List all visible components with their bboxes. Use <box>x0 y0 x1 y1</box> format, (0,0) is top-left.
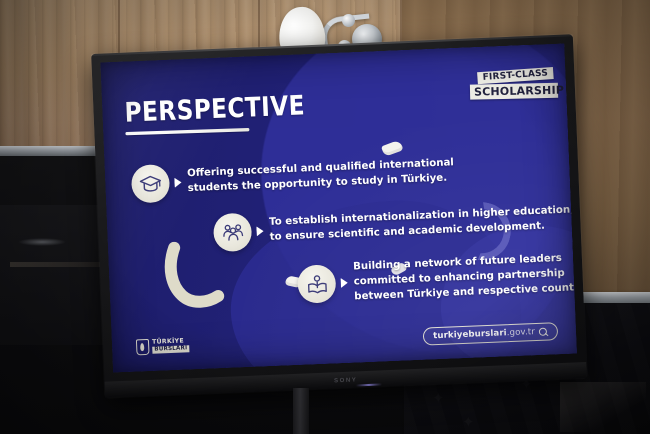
dark-furniture-left <box>0 205 108 345</box>
star-decal: ✦ <box>462 415 475 430</box>
graduation-cap-icon <box>131 164 171 204</box>
magnifier-icon <box>539 327 548 336</box>
bullet-arrow-icon <box>174 177 181 187</box>
presentation-slide: PERSPECTIVE FIRST-CLASS SCHOLARSHIP <box>101 44 577 373</box>
light-reflection-left <box>18 238 66 246</box>
url-text: turkiyeburslari.gov.tr <box>433 327 535 341</box>
tv-screen: PERSPECTIVE FIRST-CLASS SCHOLARSHIP <box>101 44 577 373</box>
turkiye-burslari-logo: TÜRKİYE BURSLARI <box>136 337 190 355</box>
url-main: turkiyeburslari <box>433 328 507 341</box>
person-reading-book-icon <box>297 264 337 304</box>
tv-brand-logo: SONY <box>334 377 358 384</box>
bullet-text-3: Building a network of future leaders com… <box>353 251 577 305</box>
photo-scene: ✦ ✦ ✦ ✦ ✦ ✦ <box>0 0 650 434</box>
bullet-text-1: Offering successful and qualified intern… <box>187 156 455 196</box>
page-title: PERSPECTIVE <box>124 90 306 128</box>
group-people-icon <box>213 213 253 253</box>
first-class-scholarship-logo: FIRST-CLASS SCHOLARSHIP <box>469 68 550 100</box>
logo-text-group: TÜRKİYE BURSLARI <box>152 338 190 353</box>
star-decal: ✦ <box>432 391 445 406</box>
logo-line-scholarship: SCHOLARSHIP <box>470 83 558 100</box>
television: PERSPECTIVE FIRST-CLASS SCHOLARSHIP <box>91 34 587 397</box>
shelf-edge <box>10 262 106 267</box>
window-reflection <box>560 382 646 432</box>
wall-trim-left <box>0 146 104 156</box>
tv-stand <box>293 388 309 434</box>
shield-emblem-icon <box>136 339 150 356</box>
logo-line-burslari: BURSLARI <box>152 346 189 354</box>
bullet-arrow-icon <box>341 278 348 288</box>
title-underline <box>125 128 249 135</box>
tv-power-led <box>356 383 382 386</box>
url-suffix: .gov.tr <box>507 327 536 338</box>
bullet-arrow-icon <box>256 226 263 236</box>
sconce-knob <box>342 14 355 27</box>
